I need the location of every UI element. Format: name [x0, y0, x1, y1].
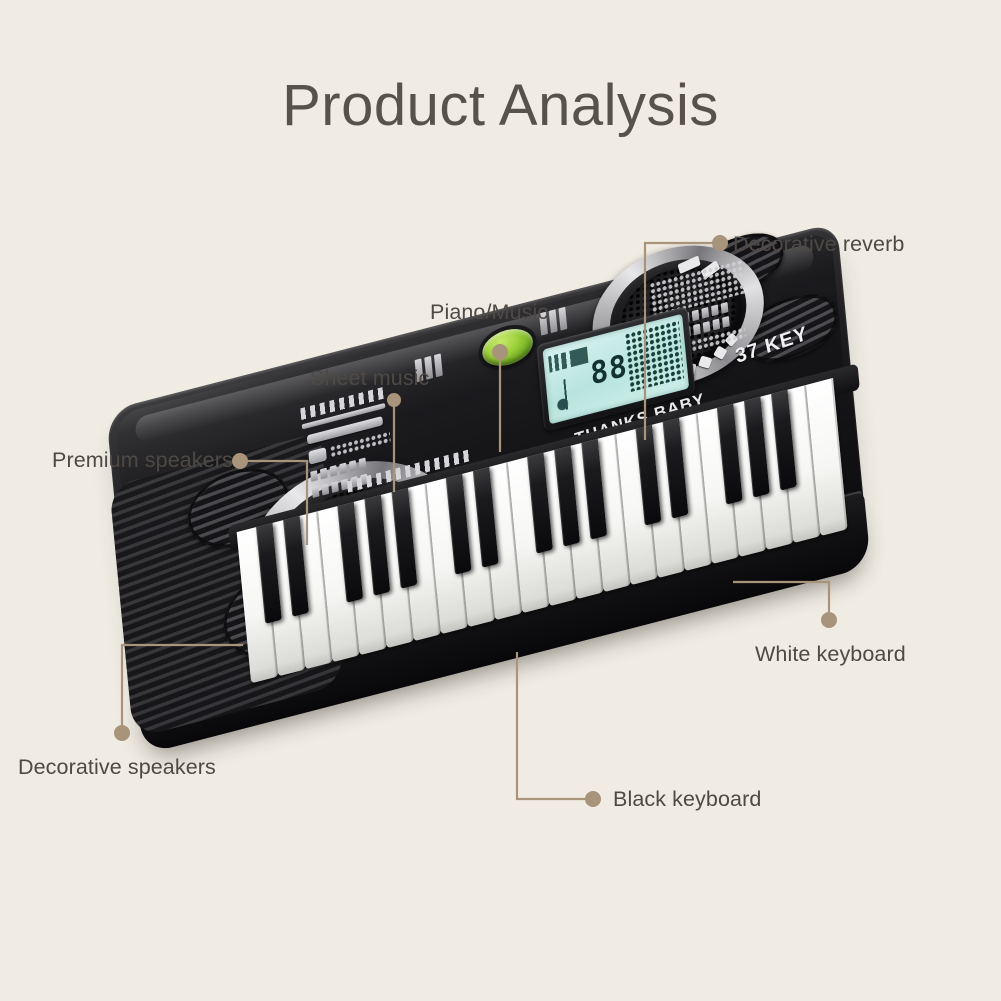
lcd-status-icons: [548, 347, 588, 373]
lcd-digits: 88: [589, 351, 629, 391]
callout-decorative-reverb: Decorative reverb: [733, 232, 904, 257]
keyboard-body: 88 THANKS BABY 37 KEY: [106, 221, 894, 956]
callout-white-keyboard: White keyboard: [755, 642, 906, 667]
callout-premium-speakers: Premium speakers: [52, 448, 233, 473]
callout-decorative-speakers: Decorative speakers: [18, 755, 216, 780]
callout-sheet-music: Sheet music: [310, 366, 429, 391]
lcd-note-icon: [554, 376, 582, 413]
lcd-dot-matrix: [624, 320, 684, 392]
product-image-keyboard: 88 THANKS BABY 37 KEY: [0, 0, 1001, 1001]
callout-piano-music: Piano/Music: [430, 300, 548, 325]
product-analysis-page: Product Analysis: [0, 0, 1001, 1001]
callout-black-keyboard: Black keyboard: [613, 787, 761, 812]
